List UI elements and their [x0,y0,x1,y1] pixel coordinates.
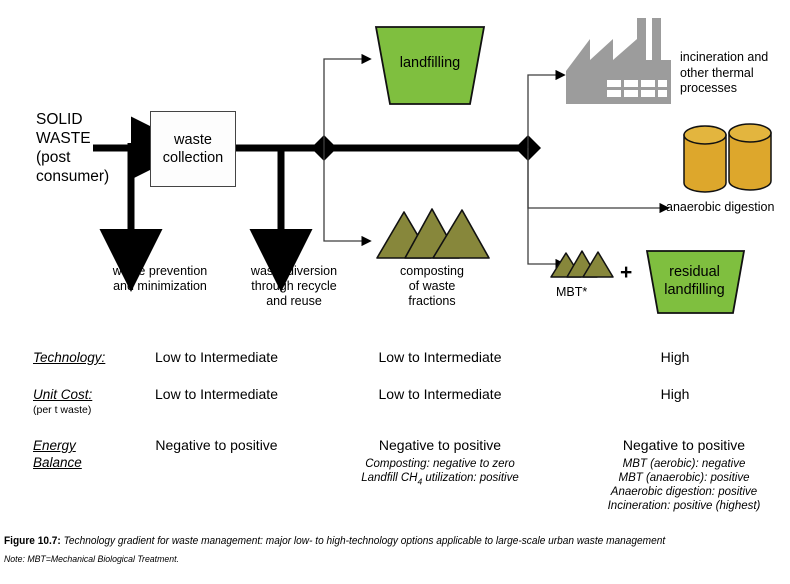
cell-technology-col2: Low to Intermediate [326,348,554,366]
cell-energy-col3-note-2: MBT (anaerobic): positive [580,471,788,486]
note-landfill-ch4-suffix: utilization: positive [422,472,519,484]
cell-energy-col2-note-1: Composting: negative to zero [326,457,554,472]
cell-energy-col2-note-2: Landfill CH4 utilization: positive [326,471,554,489]
mbt-label: MBT* [556,285,626,301]
note-landfill-ch4-prefix: Landfill CH [361,472,417,484]
cell-technology-col3: High [600,348,750,366]
incineration-factory-icon [566,18,671,104]
waste-diversion-label: waste diversion through recycle and reus… [233,264,355,309]
mbt-triangles-icon [551,251,613,277]
anaerobic-digestion-label: anaerobic digestion [666,200,790,216]
residual-landfilling-label: residual landfilling [647,263,742,299]
row-label-unit-cost: Unit Cost: [33,386,92,403]
cell-energy-col2: Negative to positive [326,436,554,454]
caption-line-1: Figure 10.7: Technology gradient for was… [4,534,723,548]
plus-sign-label: + [620,262,632,283]
caption-figure-number: Figure 10.7: [4,535,61,547]
figure-root: SOLID WASTE (post consumer) waste collec… [0,0,790,584]
cell-unit-cost-col3: High [600,385,750,403]
figure-caption: Figure 10.7: Technology gradient for was… [4,534,786,566]
technology-gradient-table: Technology: Low to Intermediate Low to I… [0,338,790,523]
cell-unit-cost-col2: Low to Intermediate [326,385,554,403]
cell-unit-cost-col1: Low to Intermediate [114,385,319,403]
cell-energy-col3: Negative to positive [580,436,788,454]
cell-energy-col1: Negative to positive [114,436,319,454]
composting-label: composting of waste fractions [372,264,492,309]
caption-figure-text: Technology gradient for waste management… [61,535,665,547]
waste-collection-label: waste collection [163,131,223,167]
landfilling-label: landfilling [376,55,484,71]
row-sublabel-unit-cost: (per t waste) [33,404,91,416]
incineration-label: incineration and other thermal processes [680,50,788,97]
waste-prevention-label: waste prevention and minimization [85,264,235,294]
cell-energy-col3-note-1: MBT (aerobic): negative [580,457,788,472]
anaerobic-digestion-barrels-icon [684,124,771,192]
solid-waste-source-label: SOLID WASTE (post consumer) [36,110,146,186]
cell-energy-col3-note-3: Anaerobic digestion: positive [580,485,788,500]
cell-technology-col1: Low to Intermediate [114,348,319,366]
composting-triangles-icon [377,209,489,258]
cell-energy-col3-note-4: Incineration: positive (highest) [580,499,788,514]
caption-note: Note: MBT=Mechanical Biological Treatmen… [4,553,723,566]
row-label-energy-balance: Energy Balance [33,437,82,471]
waste-collection-box[interactable]: waste collection [150,111,236,187]
row-label-technology: Technology: [33,349,105,366]
